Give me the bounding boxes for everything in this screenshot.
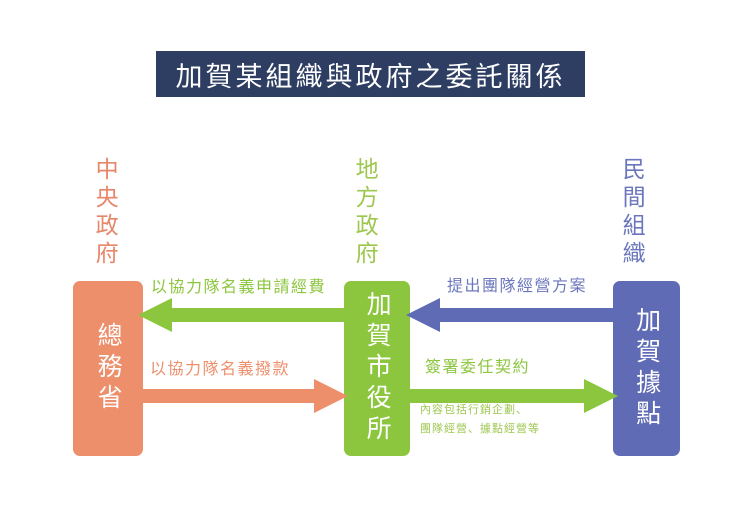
arrow-grant-funding <box>136 378 348 414</box>
diagram-canvas: 加賀某組織與政府之委託關係 中央政府 地方政府 民間組織 總務省 加賀市役所 加… <box>0 0 740 523</box>
arrow-label-grant-funding: 以協力隊名義撥款 <box>150 355 290 379</box>
page-title: 加賀某組織與政府之委託關係 <box>176 55 566 94</box>
column-heading-central-government: 中央政府 <box>92 157 116 269</box>
arrow-apply-funding <box>138 297 350 333</box>
node-box-kyoten: 加賀據點 <box>613 281 680 456</box>
node-label-cityhall: 加賀市役所 <box>364 291 390 446</box>
arrow-label-submit-proposal: 提出團隊經營方案 <box>447 272 587 296</box>
node-label-somusho: 總務省 <box>95 322 121 415</box>
node-label-kyoten: 加賀據點 <box>633 307 659 431</box>
arrow-submit-proposal <box>406 297 618 333</box>
contract-note: 內容包括行銷企劃、 團隊經營、據點經營等 <box>420 400 540 439</box>
arrow-label-apply-funding: 以協力隊名義申請經費 <box>151 273 326 297</box>
column-heading-civil-organization: 民間組織 <box>619 157 643 269</box>
contract-note-line-2: 團隊經營、據點經營等 <box>420 419 540 438</box>
diagram-title-bar: 加賀某組織與政府之委託關係 <box>156 51 585 97</box>
contract-note-line-1: 內容包括行銷企劃、 <box>420 400 540 419</box>
node-box-cityhall: 加賀市役所 <box>344 281 410 456</box>
arrow-label-sign-contract: 簽署委任契約 <box>425 353 530 377</box>
node-box-somusho: 總務省 <box>73 281 143 456</box>
column-heading-local-government: 地方政府 <box>352 157 376 269</box>
